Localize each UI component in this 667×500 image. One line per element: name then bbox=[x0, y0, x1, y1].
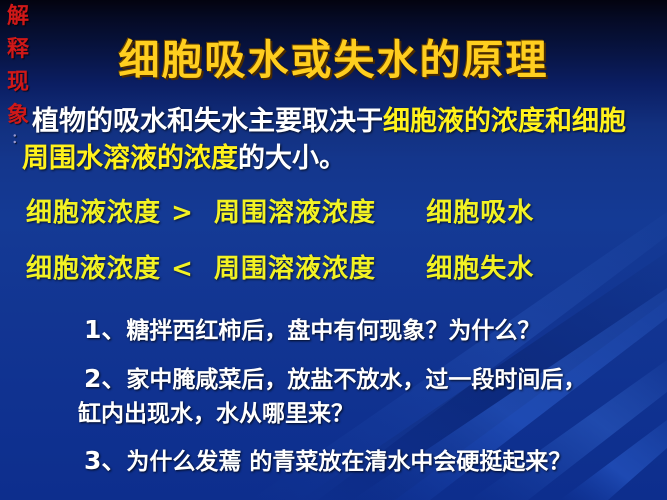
intro-line-1-white: 植物的吸水和失水主要取决于 bbox=[32, 106, 383, 137]
question-2-number: 2、 bbox=[84, 364, 126, 393]
question-3-number: 3、 bbox=[84, 446, 126, 475]
comparison-1-operator: > bbox=[171, 198, 194, 228]
question-1-text: 糖拌西红柿后，盘中有何现象？为什么？ bbox=[126, 318, 540, 344]
intro-line-1: 植物的吸水和失水主要取决于细胞液的浓度和细胞 bbox=[32, 99, 626, 138]
intro-line-1-yellow: 细胞液的浓度和细胞 bbox=[383, 106, 626, 137]
intro-line-2-yellow: 周围水溶液的浓度 bbox=[22, 143, 238, 174]
comparison-1-right: 周围溶液浓度 bbox=[214, 198, 376, 228]
comparison-row-1: 细胞液浓度 > 周围溶液浓度 细胞吸水 bbox=[26, 192, 534, 229]
slide-title: 细胞吸水或失水的原理 bbox=[0, 26, 667, 86]
question-1-number: 1、 bbox=[84, 315, 126, 344]
comparison-2-right: 周围溶液浓度 bbox=[214, 254, 376, 284]
comparison-row-2: 细胞液浓度 < 周围溶液浓度 细胞失水 bbox=[26, 248, 534, 285]
comparison-1-left: 细胞液浓度 bbox=[26, 198, 161, 228]
comparison-2-operator: < bbox=[171, 254, 194, 284]
question-2-text-cont: 缸内出现水，水从哪里来？ bbox=[78, 401, 354, 427]
question-item-1: 1、糖拌西红柿后，盘中有何现象？为什么？ bbox=[84, 310, 540, 346]
presentation-slide: 细胞吸水或失水的原理 植物的吸水和失水主要取决于细胞液的浓度和细胞 周围水溶液的… bbox=[0, 0, 667, 500]
question-item-3: 3、为什么发蔫 的青菜放在清水中会硬挺起来？ bbox=[84, 441, 571, 477]
intro-line-2-white: 的大小。 bbox=[238, 143, 346, 174]
question-item-2: 2、家中腌咸菜后，放盐不放水，过一段时间后， bbox=[84, 359, 586, 395]
comparison-1-result: 细胞吸水 bbox=[426, 198, 534, 228]
question-2-continuation: 缸内出现水，水从哪里来？ bbox=[78, 394, 354, 428]
side-label-char-4: 象 bbox=[0, 99, 36, 132]
comparison-2-result: 细胞失水 bbox=[426, 254, 534, 284]
question-2-text: 家中腌咸菜后，放盐不放水，过一段时间后， bbox=[126, 367, 586, 393]
comparison-2-left: 细胞液浓度 bbox=[26, 254, 161, 284]
question-3-text: 为什么发蔫 的青菜放在清水中会硬挺起来？ bbox=[126, 449, 571, 475]
intro-line-2: 周围水溶液的浓度的大小。 bbox=[22, 136, 346, 175]
